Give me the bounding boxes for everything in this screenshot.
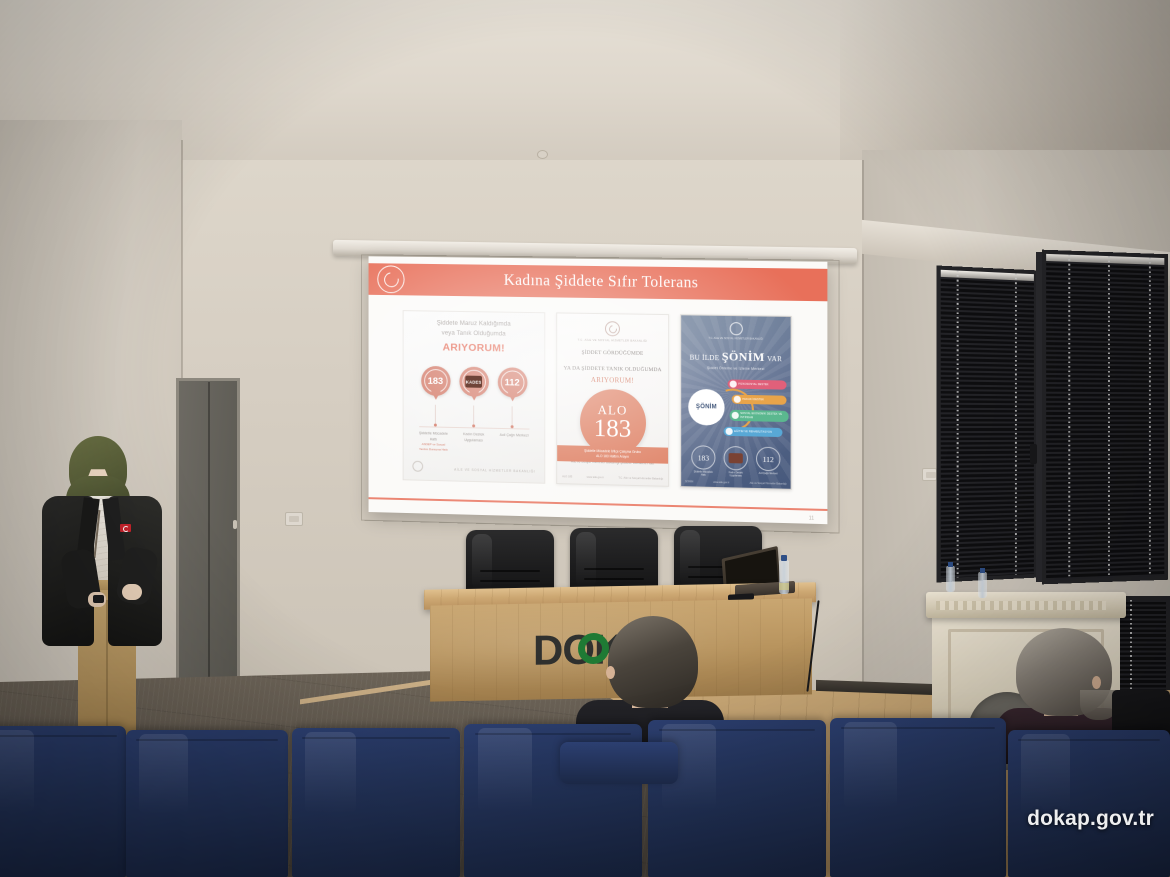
slide-body: Şiddete Maruz Kaldığımda veya Tanık Oldu…	[369, 301, 828, 502]
panel-right-foot-center: www.aile.gov.tr	[713, 481, 729, 484]
slide-header-band: Kadına Şiddete Sıfır Tolerans	[369, 263, 828, 301]
sonim-number-183: 183 Şiddetle Mücadele Hattı	[691, 445, 715, 478]
panel-right-subtitle: Şiddet Önleme ve İzleme Merkezi	[681, 366, 790, 372]
panel-center-footer: ALO 183 www.aile.gov.tr T.C. Aile ve Sos…	[557, 475, 668, 481]
sonim-service-4-label: EĞİTİM VE REHABİLİTASYON	[734, 430, 772, 434]
panel-left-headline: ARIYORUM!	[408, 341, 539, 355]
slide-panel-sonim: T.C. AİLE VE SOSYAL HİZMETLER BAKANLIĞI …	[680, 314, 791, 490]
window-left-pane	[937, 266, 1038, 583]
slide-page-number: 11	[809, 516, 814, 522]
panel-right-seal-icon	[729, 322, 742, 335]
panel-left-footer: AİLE VE SOSYAL HİZMETLER BAKANLIĞI	[408, 461, 539, 475]
projector-screen: Kadına Şiddete Sıfır Tolerans Şiddete Ma…	[369, 256, 828, 524]
panel-right-foot-left: ŞÖNİM	[685, 480, 693, 483]
lectern-cornice	[926, 592, 1126, 618]
map-pin-183: 183	[421, 366, 450, 396]
sonim-service-3: SOSYAL EKONOMİK DESTEK VE İSTİHDAM	[730, 410, 789, 422]
panel-right-org: T.C. AİLE VE SOSYAL HİZMETLER BAKANLIĞI	[681, 336, 790, 342]
panel-left-footer-meta: AİLE VE SOSYAL HİZMETLER BAKANLIĞI	[454, 468, 535, 475]
audience-chair-1[interactable]	[0, 726, 126, 877]
door-gap	[208, 382, 210, 704]
ceiling-smoke-detector-icon	[537, 150, 548, 159]
door-handle[interactable]	[233, 520, 237, 529]
panel-center-org: T.C. AİLE VE SOSYAL HİZMETLER BAKANLIĞI	[557, 337, 668, 343]
map-pin-kades: KADES	[459, 367, 489, 397]
water-bottle-desk[interactable]	[779, 560, 789, 594]
audience-chair-center-backrest[interactable]	[560, 742, 678, 784]
water-bottle-lectern-2[interactable]	[978, 572, 987, 598]
sonim-number-183-caption: Şiddetle Mücadele Hattı	[691, 471, 715, 478]
panel-right-title-post: VAR	[767, 355, 782, 363]
slide-panel-alo183: T.C. AİLE VE SOSYAL HİZMETLER BAKANLIĞI …	[556, 312, 669, 486]
sonim-number-kades-caption: Kadın Destek Uygulaması	[724, 472, 748, 479]
sonim-number-112-value: 112	[763, 454, 774, 463]
audience-right-ear	[1092, 676, 1101, 689]
panel-left-pins: 183 KADES 112	[408, 366, 539, 398]
sonim-service-2-label: HUKUKİ DESTEK	[742, 398, 764, 402]
panel-right-title: BU İLDE ŞÖNİM VAR	[681, 348, 790, 365]
site-watermark: dokap.gov.tr	[1027, 807, 1154, 831]
sonim-number-183-value: 183	[698, 453, 709, 462]
panel-left-captions: Şiddetle Mücadele Hattı ASDEP ve Sosyal …	[408, 431, 539, 454]
turkish-flag-pin-icon	[120, 524, 131, 532]
lectern-greek-key-trim	[936, 601, 1106, 610]
audience-center-ear	[606, 666, 615, 679]
presenter-speaker	[36, 440, 170, 735]
sonim-number-112-caption: Acil Çağrı Merkezi	[756, 473, 780, 477]
sonim-service-3-label: SOSYAL EKONOMİK DESTEK VE İSTİHDAM	[740, 412, 788, 419]
panel-center-headline: ARIYORUM!	[557, 376, 668, 386]
panel-center-line2: YA DA ŞİDDETE TANIK OLDUĞUMDA	[557, 364, 668, 374]
kades-icon	[729, 453, 743, 463]
audience-chair-2[interactable]	[126, 730, 288, 877]
pin-caption-183: Şiddetle Mücadele Hattı	[419, 431, 448, 441]
pin-caption-112: Acil Çağrı Merkezi	[498, 433, 530, 453]
window-right-pane	[1042, 250, 1168, 585]
window-mullion	[1036, 252, 1042, 582]
light-switch-plate[interactable]	[285, 512, 303, 526]
sonim-hotline-numbers: 183 Şiddetle Mücadele Hattı Kadın Destek…	[681, 445, 790, 480]
window-handle[interactable]	[1030, 444, 1037, 464]
map-pin-112: 112	[497, 367, 527, 397]
pin-value-kades: KADES	[466, 379, 481, 384]
slide-title: Kadına Şiddete Sıfır Tolerans	[405, 271, 801, 294]
presentation-slide: Kadına Şiddete Sıfır Tolerans Şiddete Ma…	[369, 256, 828, 524]
ministry-seal-icon	[377, 265, 404, 293]
panel-center-line1: ŞİDDET GÖRDÜĞÜMDE	[557, 349, 668, 359]
audience-chair-3[interactable]	[292, 728, 460, 877]
panel-left-line2: veya Tanık Olduğumda	[408, 328, 539, 340]
pin-subcaption-183: ASDEP ve Sosyal Yardım Danışma Hattı	[418, 442, 449, 452]
audience-chair-6[interactable]	[830, 718, 1006, 877]
sonim-service-4: EĞİTİM VE REHABİLİTASYON	[724, 427, 783, 437]
audience-center-hair	[608, 616, 698, 708]
pin-value-183: 183	[428, 376, 444, 387]
panel-center-seal-icon	[605, 321, 620, 336]
panel-left-seal-icon	[412, 461, 423, 472]
presenter-hand-right	[122, 584, 142, 600]
sonim-number-kades: Kadın Destek Uygulaması	[724, 446, 748, 479]
pin-value-112: 112	[505, 377, 520, 388]
panel-center-foot-center: www.aile.gov.tr	[587, 476, 604, 479]
presentation-clicker[interactable]	[93, 595, 104, 603]
audience-chair-7[interactable]	[1008, 730, 1170, 877]
water-bottle-lectern-1[interactable]	[946, 566, 955, 592]
conference-room-photo: Kadına Şiddete Sıfır Tolerans Şiddete Ma…	[0, 0, 1170, 877]
alo-number: 183	[594, 416, 631, 443]
panel-center-foot-right: T.C. Aile ve Sosyal Hizmetler Bakanlığı	[618, 477, 663, 481]
pin-caption-kades: Kadın Destek Uygulaması	[458, 432, 489, 452]
wall-socket-plate[interactable]	[922, 468, 937, 481]
sonim-service-diagram: ŞÖNİM PSİKOSOSYAL DESTEK HUKUKİ DESTEK S…	[681, 375, 790, 444]
panel-right-title-pre: BU İLDE	[690, 354, 720, 363]
sonim-number-112: 112 Acil Çağrı Merkezi	[756, 447, 780, 480]
slide-panel-ariyorum: Şiddete Maruz Kaldığımda veya Tanık Oldu…	[403, 310, 546, 484]
panel-center-band: Şiddetle Mücadele İl/İlçe Çalışma Grubu …	[557, 445, 668, 463]
sonim-service-1-label: PSİKOSOSYAL DESTEK	[738, 383, 768, 387]
panel-center-foot-left: ALO 183	[562, 475, 572, 478]
sonim-service-1: PSİKOSOSYAL DESTEK	[728, 379, 787, 389]
panel-right-title-main: ŞÖNİM	[722, 349, 765, 364]
sonim-service-2: HUKUKİ DESTEK	[732, 395, 787, 405]
